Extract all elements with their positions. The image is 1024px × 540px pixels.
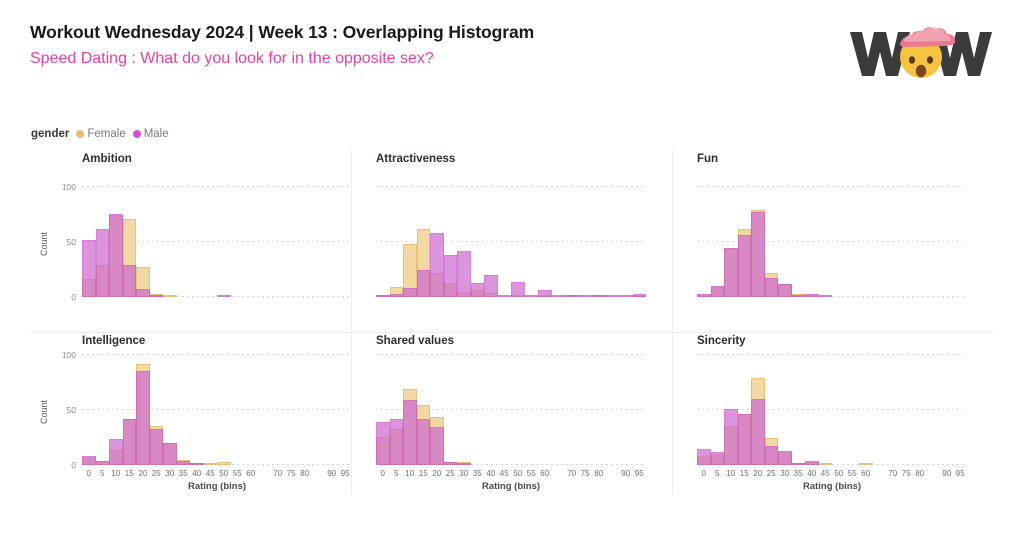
x-tick-label: 45 — [500, 469, 509, 478]
histogram-bar[interactable] — [805, 294, 819, 297]
histogram-bar[interactable] — [217, 462, 231, 465]
histogram-bar[interactable] — [376, 295, 390, 297]
x-tick-label: 60 — [246, 469, 255, 478]
plot-area — [697, 182, 967, 297]
histogram-bar[interactable] — [417, 270, 431, 297]
chart-panel-sincerity[interactable]: Sincerity0510152025303540455055607075809… — [672, 332, 993, 495]
bar-group — [82, 182, 352, 297]
x-tick-label: 75 — [902, 469, 911, 478]
histogram-bar[interactable] — [633, 294, 647, 297]
histogram-bar[interactable] — [711, 452, 725, 465]
histogram-bar[interactable] — [82, 240, 96, 297]
y-tick-label: 0 — [71, 292, 76, 302]
histogram-bar[interactable] — [163, 295, 177, 297]
x-tick-label: 45 — [206, 469, 215, 478]
histogram-bar[interactable] — [190, 463, 204, 465]
x-tick-label: 40 — [192, 469, 201, 478]
x-tick-label: 55 — [233, 469, 242, 478]
y-axis-label: Count — [39, 392, 49, 432]
histogram-bar[interactable] — [751, 399, 765, 465]
chart-panel-shared-values[interactable]: Shared values051015202530354045505560707… — [351, 332, 672, 495]
histogram-bar[interactable] — [738, 414, 752, 465]
x-tick-label: 5 — [394, 469, 398, 478]
histogram-bar[interactable] — [136, 371, 150, 465]
histogram-bar[interactable] — [697, 294, 711, 297]
histogram-bar[interactable] — [819, 295, 833, 297]
histogram-bar[interactable] — [403, 288, 417, 297]
x-tick-label: 70 — [567, 469, 576, 478]
x-tick-label: 20 — [432, 469, 441, 478]
bar-group — [82, 350, 352, 465]
y-tick-label: 50 — [67, 237, 76, 247]
legend: gender Female Male — [31, 128, 169, 140]
panel-title: Fun — [697, 153, 718, 165]
x-tick-label: 25 — [767, 469, 776, 478]
histogram-bar[interactable] — [471, 283, 485, 297]
x-tick-label: 55 — [848, 469, 857, 478]
x-tick-label: 15 — [740, 469, 749, 478]
x-tick-label: 0 — [381, 469, 385, 478]
histogram-bar[interactable] — [619, 295, 633, 297]
histogram-bar[interactable] — [805, 461, 819, 465]
histogram-bar[interactable] — [606, 295, 620, 297]
histogram-bar[interactable] — [778, 451, 792, 465]
histogram-bar[interactable] — [552, 295, 566, 297]
histogram-bar[interactable] — [390, 419, 404, 465]
legend-title: gender — [31, 128, 69, 140]
header: Workout Wednesday 2024 | Week 13 : Overl… — [30, 22, 534, 69]
y-tick-label: 100 — [62, 182, 76, 192]
x-tick-label: 75 — [287, 469, 296, 478]
x-tick-label: 90 — [327, 469, 336, 478]
histogram-bar[interactable] — [751, 212, 765, 297]
y-tick-label: 50 — [67, 405, 76, 415]
panel-title: Sincerity — [697, 335, 746, 347]
page-title: Workout Wednesday 2024 | Week 13 : Overl… — [30, 22, 534, 44]
x-axis-label: Rating (bins) — [697, 481, 967, 492]
chart-panel-attractiveness[interactable]: Attractiveness — [351, 150, 672, 332]
chart-panel-fun[interactable]: Fun — [672, 150, 993, 332]
x-tick-label: 60 — [861, 469, 870, 478]
histogram-bar[interactable] — [538, 290, 552, 297]
x-tick-label: 25 — [152, 469, 161, 478]
x-tick-label: 35 — [794, 469, 803, 478]
histogram-bar[interactable] — [96, 461, 110, 465]
histogram-bar[interactable] — [403, 400, 417, 465]
y-axis: 050100 — [52, 182, 76, 297]
x-tick-label: 80 — [915, 469, 924, 478]
histogram-bar[interactable] — [592, 295, 606, 297]
histogram-bar[interactable] — [417, 419, 431, 465]
x-tick-label: 20 — [138, 469, 147, 478]
x-tick-label: 80 — [300, 469, 309, 478]
x-tick-label: 50 — [513, 469, 522, 478]
y-axis-label: Count — [39, 224, 49, 264]
x-tick-label: 95 — [956, 469, 965, 478]
x-tick-label: 40 — [486, 469, 495, 478]
x-tick-label: 10 — [726, 469, 735, 478]
plot-area — [376, 182, 646, 297]
histogram-bar[interactable] — [778, 284, 792, 297]
histogram-bar[interactable] — [765, 446, 779, 465]
x-axis: 0510152025303540455055607075809095Rating… — [82, 469, 352, 493]
histogram-bar[interactable] — [565, 295, 579, 297]
histogram-bar[interactable] — [430, 233, 444, 297]
histogram-bar[interactable] — [150, 295, 164, 297]
histogram-bar[interactable] — [484, 275, 498, 297]
bar-group — [697, 182, 967, 297]
chart-panel-ambition[interactable]: Ambition050100Count — [30, 150, 351, 332]
panel-title: Ambition — [82, 153, 132, 165]
x-tick-label: 15 — [125, 469, 134, 478]
x-tick-label: 50 — [219, 469, 228, 478]
histogram-bar[interactable] — [96, 229, 110, 297]
panel-divider — [351, 332, 352, 495]
x-tick-label: 5 — [715, 469, 719, 478]
histogram-bar[interactable] — [724, 409, 738, 465]
histogram-bar[interactable] — [136, 289, 150, 297]
x-tick-label: 70 — [273, 469, 282, 478]
panel-title: Shared values — [376, 335, 454, 347]
x-tick-label: 35 — [473, 469, 482, 478]
histogram-bar[interactable] — [217, 295, 231, 297]
x-tick-label: 80 — [594, 469, 603, 478]
y-axis: 050100 — [52, 350, 76, 465]
chart-grid: Ambition050100CountAttractivenessFunInte… — [30, 150, 994, 495]
histogram-bar[interactable] — [724, 248, 738, 297]
plot-area — [82, 350, 352, 465]
histogram-bar[interactable] — [792, 295, 806, 297]
histogram-bar[interactable] — [390, 294, 404, 297]
histogram-bar[interactable] — [738, 235, 752, 297]
histogram-bar[interactable] — [765, 278, 779, 297]
histogram-bar[interactable] — [697, 449, 711, 465]
histogram-bar[interactable] — [511, 282, 525, 297]
plot-area — [697, 350, 967, 465]
x-tick-label: 50 — [834, 469, 843, 478]
chart-row: Intelligence050100Count05101520253035404… — [30, 332, 994, 495]
wow-logo — [846, 24, 996, 82]
histogram-bar[interactable] — [430, 427, 444, 465]
x-tick-label: 60 — [540, 469, 549, 478]
x-tick-label: 30 — [780, 469, 789, 478]
histogram-bar[interactable] — [859, 463, 873, 465]
x-tick-label: 70 — [888, 469, 897, 478]
histogram-bar[interactable] — [82, 456, 96, 465]
panel-title: Attractiveness — [376, 153, 455, 165]
wow-logo-icon — [846, 24, 996, 82]
bar-group — [376, 350, 646, 465]
x-tick-label: 5 — [100, 469, 104, 478]
histogram-bar[interactable] — [457, 251, 471, 297]
panel-divider — [672, 332, 673, 495]
x-tick-label: 0 — [87, 469, 91, 478]
x-tick-label: 95 — [635, 469, 644, 478]
histogram-bar[interactable] — [109, 214, 123, 297]
histogram-bar[interactable] — [819, 463, 833, 465]
histogram-bar[interactable] — [525, 295, 539, 297]
histogram-bar[interactable] — [444, 255, 458, 297]
legend-label-female: Female — [87, 128, 125, 140]
y-tick-label: 0 — [71, 460, 76, 470]
histogram-bar[interactable] — [123, 265, 137, 297]
x-axis-label: Rating (bins) — [376, 481, 646, 492]
dashboard-root: Workout Wednesday 2024 | Week 13 : Overl… — [0, 0, 1024, 540]
histogram-bar[interactable] — [109, 439, 123, 465]
legend-dot-female — [76, 130, 84, 138]
histogram-bar[interactable] — [457, 463, 471, 465]
panel-divider — [672, 150, 673, 332]
plot-area — [376, 350, 646, 465]
x-tick-label: 75 — [581, 469, 590, 478]
page-subtitle: Speed Dating : What do you look for in t… — [30, 48, 534, 70]
x-axis: 0510152025303540455055607075809095Rating… — [697, 469, 967, 493]
chart-panel-intelligence[interactable]: Intelligence050100Count05101520253035404… — [30, 332, 351, 495]
y-tick-label: 100 — [62, 350, 76, 360]
x-axis: 0510152025303540455055607075809095Rating… — [376, 469, 646, 493]
x-tick-label: 30 — [165, 469, 174, 478]
x-axis-label: Rating (bins) — [82, 481, 352, 492]
chart-row: Ambition050100CountAttractivenessFun — [30, 150, 994, 332]
x-tick-label: 90 — [942, 469, 951, 478]
legend-label-male: Male — [144, 128, 169, 140]
histogram-bar[interactable] — [150, 429, 164, 465]
histogram-bar[interactable] — [163, 443, 177, 465]
histogram-bar[interactable] — [579, 295, 593, 297]
x-tick-label: 30 — [459, 469, 468, 478]
x-tick-label: 10 — [111, 469, 120, 478]
histogram-bar[interactable] — [204, 463, 218, 465]
bar-group — [376, 182, 646, 297]
x-tick-label: 45 — [821, 469, 830, 478]
histogram-bar[interactable] — [177, 461, 191, 465]
x-tick-label: 55 — [527, 469, 536, 478]
bar-group — [697, 350, 967, 465]
histogram-bar[interactable] — [123, 419, 137, 465]
x-tick-label: 90 — [621, 469, 630, 478]
x-tick-label: 0 — [702, 469, 706, 478]
histogram-bar[interactable] — [711, 286, 725, 297]
x-tick-label: 95 — [341, 469, 350, 478]
histogram-bar[interactable] — [444, 462, 458, 465]
histogram-bar[interactable] — [376, 422, 390, 465]
legend-item-male[interactable]: Male — [133, 128, 169, 140]
x-tick-label: 10 — [405, 469, 414, 478]
panel-divider — [351, 150, 352, 332]
legend-item-female[interactable]: Female — [76, 128, 125, 140]
x-tick-label: 35 — [179, 469, 188, 478]
histogram-bar[interactable] — [792, 463, 806, 465]
x-tick-label: 40 — [807, 469, 816, 478]
legend-dot-male — [133, 130, 141, 138]
x-tick-label: 15 — [419, 469, 428, 478]
x-tick-label: 20 — [753, 469, 762, 478]
histogram-bar[interactable] — [498, 295, 512, 297]
x-tick-label: 25 — [446, 469, 455, 478]
panel-title: Intelligence — [82, 335, 145, 347]
plot-area — [82, 182, 352, 297]
